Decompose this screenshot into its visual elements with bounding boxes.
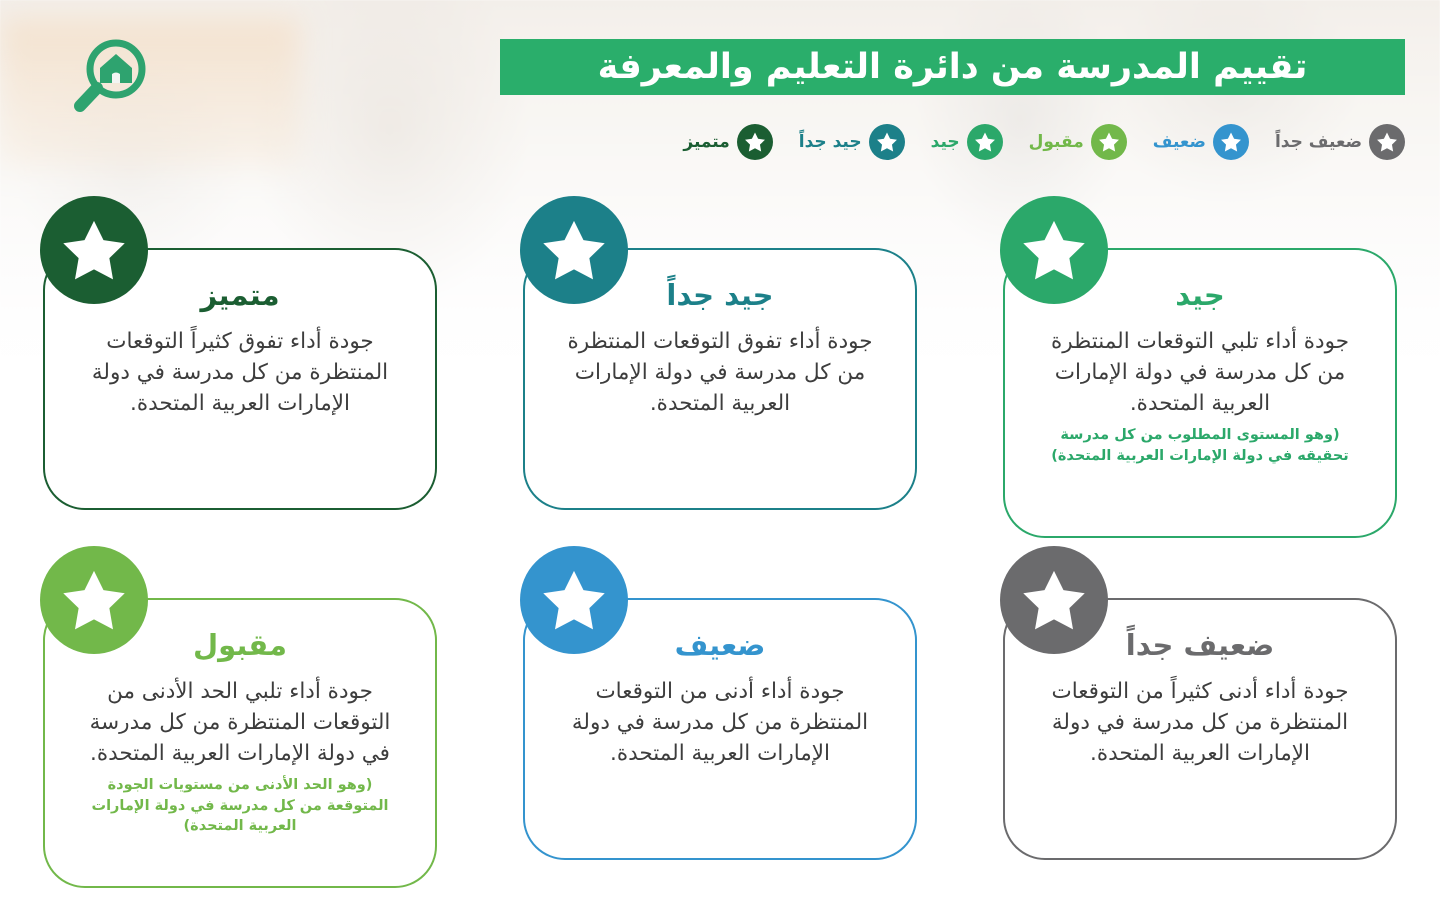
legend-item-label: متميز: [683, 132, 729, 152]
rating-legend: ضعيف جداًضعيفمقبولجيدجيد جداًمتميز: [683, 124, 1405, 160]
rating-card-cell: جيد جداًجودة أداء تفوق التوقعات المنتظرة…: [480, 196, 960, 546]
legend-item: ضعيف: [1153, 124, 1249, 160]
rating-card-description: جودة أداء أدنى كثيراً من التوقعات المنتظ…: [1035, 676, 1365, 770]
legend-item: جيد جداً: [799, 124, 905, 160]
star-icon: [40, 546, 148, 654]
rating-card-description: جودة أداء تفوق التوقعات المنتظرة من كل م…: [555, 326, 885, 420]
legend-item-label: مقبول: [1029, 132, 1084, 152]
star-icon: [737, 124, 773, 160]
star-icon: [1000, 546, 1108, 654]
rating-card-description: جودة أداء تلبي الحد الأدنى من التوقعات ا…: [75, 676, 405, 770]
rating-card-cell: جيدجودة أداء تلبي التوقعات المنتظرة من ك…: [960, 196, 1440, 546]
page-title: تقييم المدرسة من دائرة التعليم والمعرفة: [598, 47, 1308, 87]
star-icon: [1369, 124, 1405, 160]
star-icon: [520, 196, 628, 304]
legend-item: ضعيف جداً: [1275, 124, 1405, 160]
rating-card-description: جودة أداء تلبي التوقعات المنتظرة من كل م…: [1035, 326, 1365, 420]
rating-card-cell: متميزجودة أداء تفوق كثيراً التوقعات المن…: [0, 196, 480, 546]
rating-card-note: (وهو المستوى المطلوب من كل مدرسة تحقيقه …: [1035, 425, 1365, 466]
star-icon: [1213, 124, 1249, 160]
star-icon: [869, 124, 905, 160]
star-icon: [520, 546, 628, 654]
rating-card-description: جودة أداء أدنى من التوقعات المنتظرة من ك…: [555, 676, 885, 770]
star-icon: [1000, 196, 1108, 304]
star-icon: [1091, 124, 1127, 160]
page-title-banner: تقييم المدرسة من دائرة التعليم والمعرفة: [500, 39, 1405, 95]
rating-card-description: جودة أداء تفوق كثيراً التوقعات المنتظرة …: [75, 326, 405, 420]
legend-item-label: ضعيف جداً: [1275, 132, 1362, 152]
legend-item-label: ضعيف: [1153, 132, 1206, 152]
legend-item-label: جيد جداً: [799, 132, 862, 152]
legend-item: جيد: [931, 124, 1003, 160]
rating-card-note: (وهو الحد الأدنى من مستويات الجودة المتو…: [75, 775, 405, 836]
legend-item: مقبول: [1029, 124, 1127, 160]
rating-card-cell: ضعيف جداًجودة أداء أدنى كثيراً من التوقع…: [960, 546, 1440, 896]
rating-card-cell: مقبولجودة أداء تلبي الحد الأدنى من التوق…: [0, 546, 480, 896]
rating-cards-grid: جيدجودة أداء تلبي التوقعات المنتظرة من ك…: [0, 196, 1440, 896]
star-icon: [40, 196, 148, 304]
legend-item-label: جيد: [931, 132, 960, 152]
magnifier-house-icon: [68, 36, 150, 122]
star-icon: [967, 124, 1003, 160]
legend-item: متميز: [683, 124, 772, 160]
rating-card-cell: ضعيفجودة أداء أدنى من التوقعات المنتظرة …: [480, 546, 960, 896]
